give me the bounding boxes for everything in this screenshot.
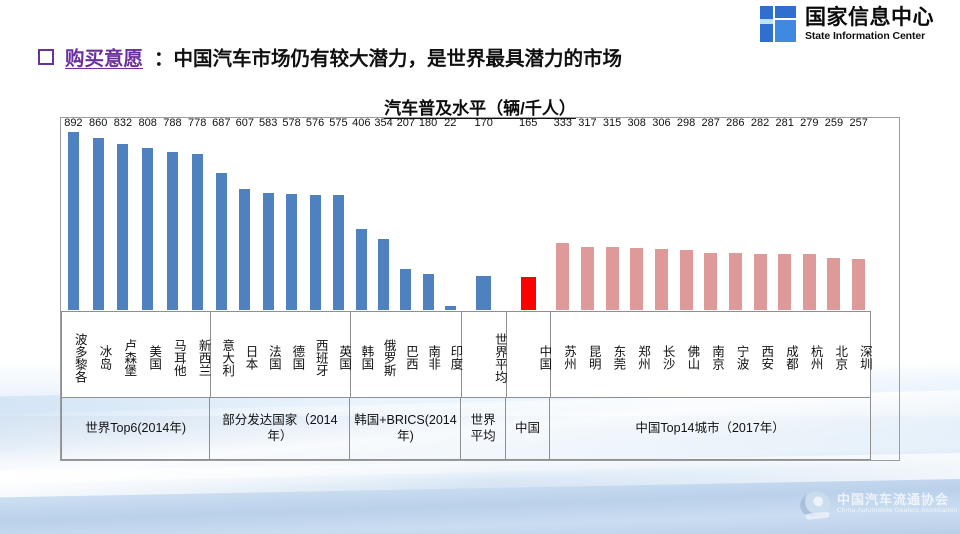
- group-label: 世界Top6(2014年): [62, 398, 210, 459]
- bar: [378, 239, 389, 310]
- group-label-row: 世界Top6(2014年)部分发达国家（2014年）韩国+BRICS(2014年…: [61, 398, 871, 460]
- bar: [423, 274, 434, 310]
- bar-item: 892: [61, 130, 86, 310]
- bar-item: 354: [372, 130, 394, 310]
- bar: [68, 132, 79, 310]
- headline-highlight: 购买意愿: [65, 42, 143, 71]
- bar: [827, 258, 840, 310]
- bar-group: 333317315308306298287286282281279259257: [550, 130, 871, 310]
- bar-group: 687607583578576575: [210, 130, 351, 310]
- group-label: 韩国+BRICS(2014年): [350, 398, 461, 459]
- bar-value-label: 306: [652, 117, 670, 129]
- bar-value-label: 279: [800, 117, 818, 129]
- bar: [680, 250, 693, 310]
- category-label: 南京: [699, 312, 724, 397]
- category-group: 中国: [507, 312, 551, 397]
- bar: [167, 152, 178, 310]
- category-label: 杭州: [798, 312, 823, 397]
- category-group: 苏州昆明东莞郑州长沙佛山南京宁波西安成都杭州北京深圳: [551, 312, 872, 397]
- bar-item: 576: [303, 130, 326, 310]
- category-label: 东莞: [601, 312, 626, 397]
- bar-item: 406: [350, 130, 372, 310]
- category-label: 新西兰: [186, 312, 211, 397]
- bar-value-label: 788: [163, 117, 181, 129]
- bar-item: 308: [624, 130, 649, 310]
- bar-value-label: 259: [825, 117, 843, 129]
- bar-item: 808: [135, 130, 160, 310]
- bar-item: 259: [822, 130, 847, 310]
- square-outline-icon: [38, 49, 54, 65]
- bar-item: 165: [506, 130, 550, 310]
- logo-title-en: State Information Center: [805, 31, 934, 42]
- bar-item: 257: [846, 130, 871, 310]
- category-label: 法国: [257, 312, 280, 397]
- category-label: 佛山: [675, 312, 700, 397]
- group-label: 世界平均: [461, 398, 505, 459]
- bar: [93, 138, 104, 310]
- bar: [521, 277, 536, 310]
- bar-value-label: 354: [374, 117, 392, 129]
- bar-value-label: 180: [419, 117, 437, 129]
- bar: [556, 243, 569, 310]
- bar: [778, 254, 791, 310]
- bar: [356, 229, 367, 310]
- category-label: 宁波: [724, 312, 749, 397]
- bar-item: 778: [185, 130, 210, 310]
- bar-item: 282: [748, 130, 773, 310]
- bar-item: 306: [649, 130, 674, 310]
- category-label: 世界平均: [462, 312, 506, 397]
- bar-item: 281: [772, 130, 797, 310]
- category-label: 巴西: [396, 312, 418, 397]
- category-label: 俄罗斯: [373, 312, 395, 397]
- chart-plot-area: 8928608328087887786876075835785765754063…: [61, 130, 871, 310]
- footer-logo-cn: 中国汽车流通协会: [837, 493, 958, 507]
- bar-value-label: 575: [329, 117, 347, 129]
- bar-value-label: 298: [677, 117, 695, 129]
- category-label: 波多黎各: [62, 312, 87, 397]
- bar-item: 583: [256, 130, 279, 310]
- category-label: 中国: [507, 312, 551, 397]
- category-label: 西班牙: [304, 312, 327, 397]
- bar: [852, 259, 865, 310]
- bar-value-label: 170: [474, 117, 492, 129]
- bar-value-label: 832: [114, 117, 132, 129]
- state-information-center-logo-icon: [760, 6, 796, 42]
- category-label: 意大利: [211, 312, 234, 397]
- bar: [729, 253, 742, 310]
- category-label: 北京: [823, 312, 848, 397]
- category-label: 德国: [281, 312, 304, 397]
- category-label: 马耳他: [161, 312, 186, 397]
- footer-logo: 中国汽车流通协会 China Automobile Dealers Associ…: [800, 492, 958, 516]
- bar-group: 170: [461, 130, 505, 310]
- bar-value-label: 22: [444, 117, 456, 129]
- category-label: 冰岛: [87, 312, 112, 397]
- bar: [192, 154, 203, 310]
- bar-item: 170: [461, 130, 505, 310]
- bar-item: 287: [698, 130, 723, 310]
- bar-item: 22: [439, 130, 461, 310]
- bar: [216, 173, 227, 310]
- category-label: 日本: [234, 312, 257, 397]
- slide-canvas: 国家信息中心 State Information Center 购买意愿 ：中国…: [0, 0, 960, 534]
- bar-value-label: 257: [849, 117, 867, 129]
- category-label: 韩国: [351, 312, 373, 397]
- bar: [803, 254, 816, 310]
- bar-item: 207: [395, 130, 417, 310]
- bar-value-label: 583: [259, 117, 277, 129]
- bar: [655, 249, 668, 310]
- bar-item: 333: [550, 130, 575, 310]
- bar-value-label: 286: [726, 117, 744, 129]
- bar: [263, 193, 274, 310]
- chart-title-text: 汽车普及水平（辆/千人）: [384, 99, 576, 118]
- bar-value-label: 165: [519, 117, 537, 129]
- bar-value-label: 315: [603, 117, 621, 129]
- bar: [400, 269, 411, 310]
- bar: [581, 247, 594, 310]
- bar-value-label: 317: [578, 117, 596, 129]
- category-group: 波多黎各冰岛卢森堡美国马耳他新西兰: [62, 312, 211, 397]
- bar-item: 607: [233, 130, 256, 310]
- bar-value-label: 576: [306, 117, 324, 129]
- bar-value-label: 281: [775, 117, 793, 129]
- bar-item: 832: [111, 130, 136, 310]
- category-label: 深圳: [847, 312, 872, 397]
- bar: [704, 253, 717, 310]
- bar: [445, 306, 456, 310]
- bar: [333, 195, 344, 310]
- footer-logo-en: China Automobile Dealers Association: [837, 507, 958, 515]
- bar: [239, 189, 250, 310]
- category-label: 卢森堡: [112, 312, 137, 397]
- group-label: 中国Top14城市（2017年）: [550, 398, 870, 459]
- category-label: 印度: [440, 312, 462, 397]
- bar-item: 279: [797, 130, 822, 310]
- bar: [142, 148, 153, 310]
- category-label: 郑州: [625, 312, 650, 397]
- category-label: 美国: [136, 312, 161, 397]
- bar-value-label: 406: [352, 117, 370, 129]
- bar-value-label: 333: [554, 117, 572, 129]
- bar: [630, 248, 643, 310]
- bar-item: 687: [210, 130, 233, 310]
- category-label: 西安: [749, 312, 774, 397]
- headline-rest: ：中国汽车市场仍有较大潜力，是世界最具潜力的市场: [154, 42, 622, 71]
- bar: [310, 195, 321, 310]
- bar-value-label: 207: [397, 117, 415, 129]
- chart-title: 汽车普及水平（辆/千人）: [0, 94, 960, 119]
- bar-value-label: 578: [282, 117, 300, 129]
- bar-value-label: 892: [64, 117, 82, 129]
- bar-value-label: 282: [751, 117, 769, 129]
- slide-headline: 购买意愿 ：中国汽车市场仍有较大潜力，是世界最具潜力的市场: [38, 42, 622, 71]
- bar-item: 317: [575, 130, 600, 310]
- bar-value-label: 687: [212, 117, 230, 129]
- bar-value-label: 287: [702, 117, 720, 129]
- bar-item: 180: [417, 130, 439, 310]
- category-label: 南非: [418, 312, 440, 397]
- category-label: 英国: [328, 312, 351, 397]
- bar-value-label: 860: [89, 117, 107, 129]
- category-label: 长沙: [650, 312, 675, 397]
- bar-item: 298: [674, 130, 699, 310]
- bar: [754, 254, 767, 310]
- bar-group: 165: [506, 130, 550, 310]
- category-label: 成都: [773, 312, 798, 397]
- bar-value-label: 607: [236, 117, 254, 129]
- bar-group: 892860832808788778: [61, 130, 210, 310]
- bar-value-label: 778: [188, 117, 206, 129]
- bar: [476, 276, 491, 310]
- bar: [606, 247, 619, 310]
- bar-value-label: 308: [628, 117, 646, 129]
- bar-item: 575: [327, 130, 350, 310]
- bar-item: 286: [723, 130, 748, 310]
- group-label: 中国: [506, 398, 550, 459]
- organization-logo: 国家信息中心 State Information Center: [760, 6, 934, 42]
- category-group: 意大利日本法国德国西班牙英国: [211, 312, 352, 397]
- bar-group: 40635420718022: [350, 130, 461, 310]
- category-label: 苏州: [551, 312, 576, 397]
- group-label: 部分发达国家（2014年）: [210, 398, 350, 459]
- bar-item: 860: [86, 130, 111, 310]
- cada-logo-icon: [798, 489, 832, 519]
- category-label-table: 波多黎各冰岛卢森堡美国马耳他新西兰意大利日本法国德国西班牙英国韩国俄罗斯巴西南非…: [61, 311, 871, 398]
- bar: [286, 194, 297, 310]
- category-group: 韩国俄罗斯巴西南非印度: [351, 312, 462, 397]
- bar-item: 315: [600, 130, 625, 310]
- bar-item: 578: [280, 130, 303, 310]
- bar-item: 788: [160, 130, 185, 310]
- category-label: 昆明: [576, 312, 601, 397]
- category-group: 世界平均: [462, 312, 506, 397]
- logo-title-cn: 国家信息中心: [805, 7, 934, 28]
- bar: [117, 144, 128, 310]
- bar-value-label: 808: [138, 117, 156, 129]
